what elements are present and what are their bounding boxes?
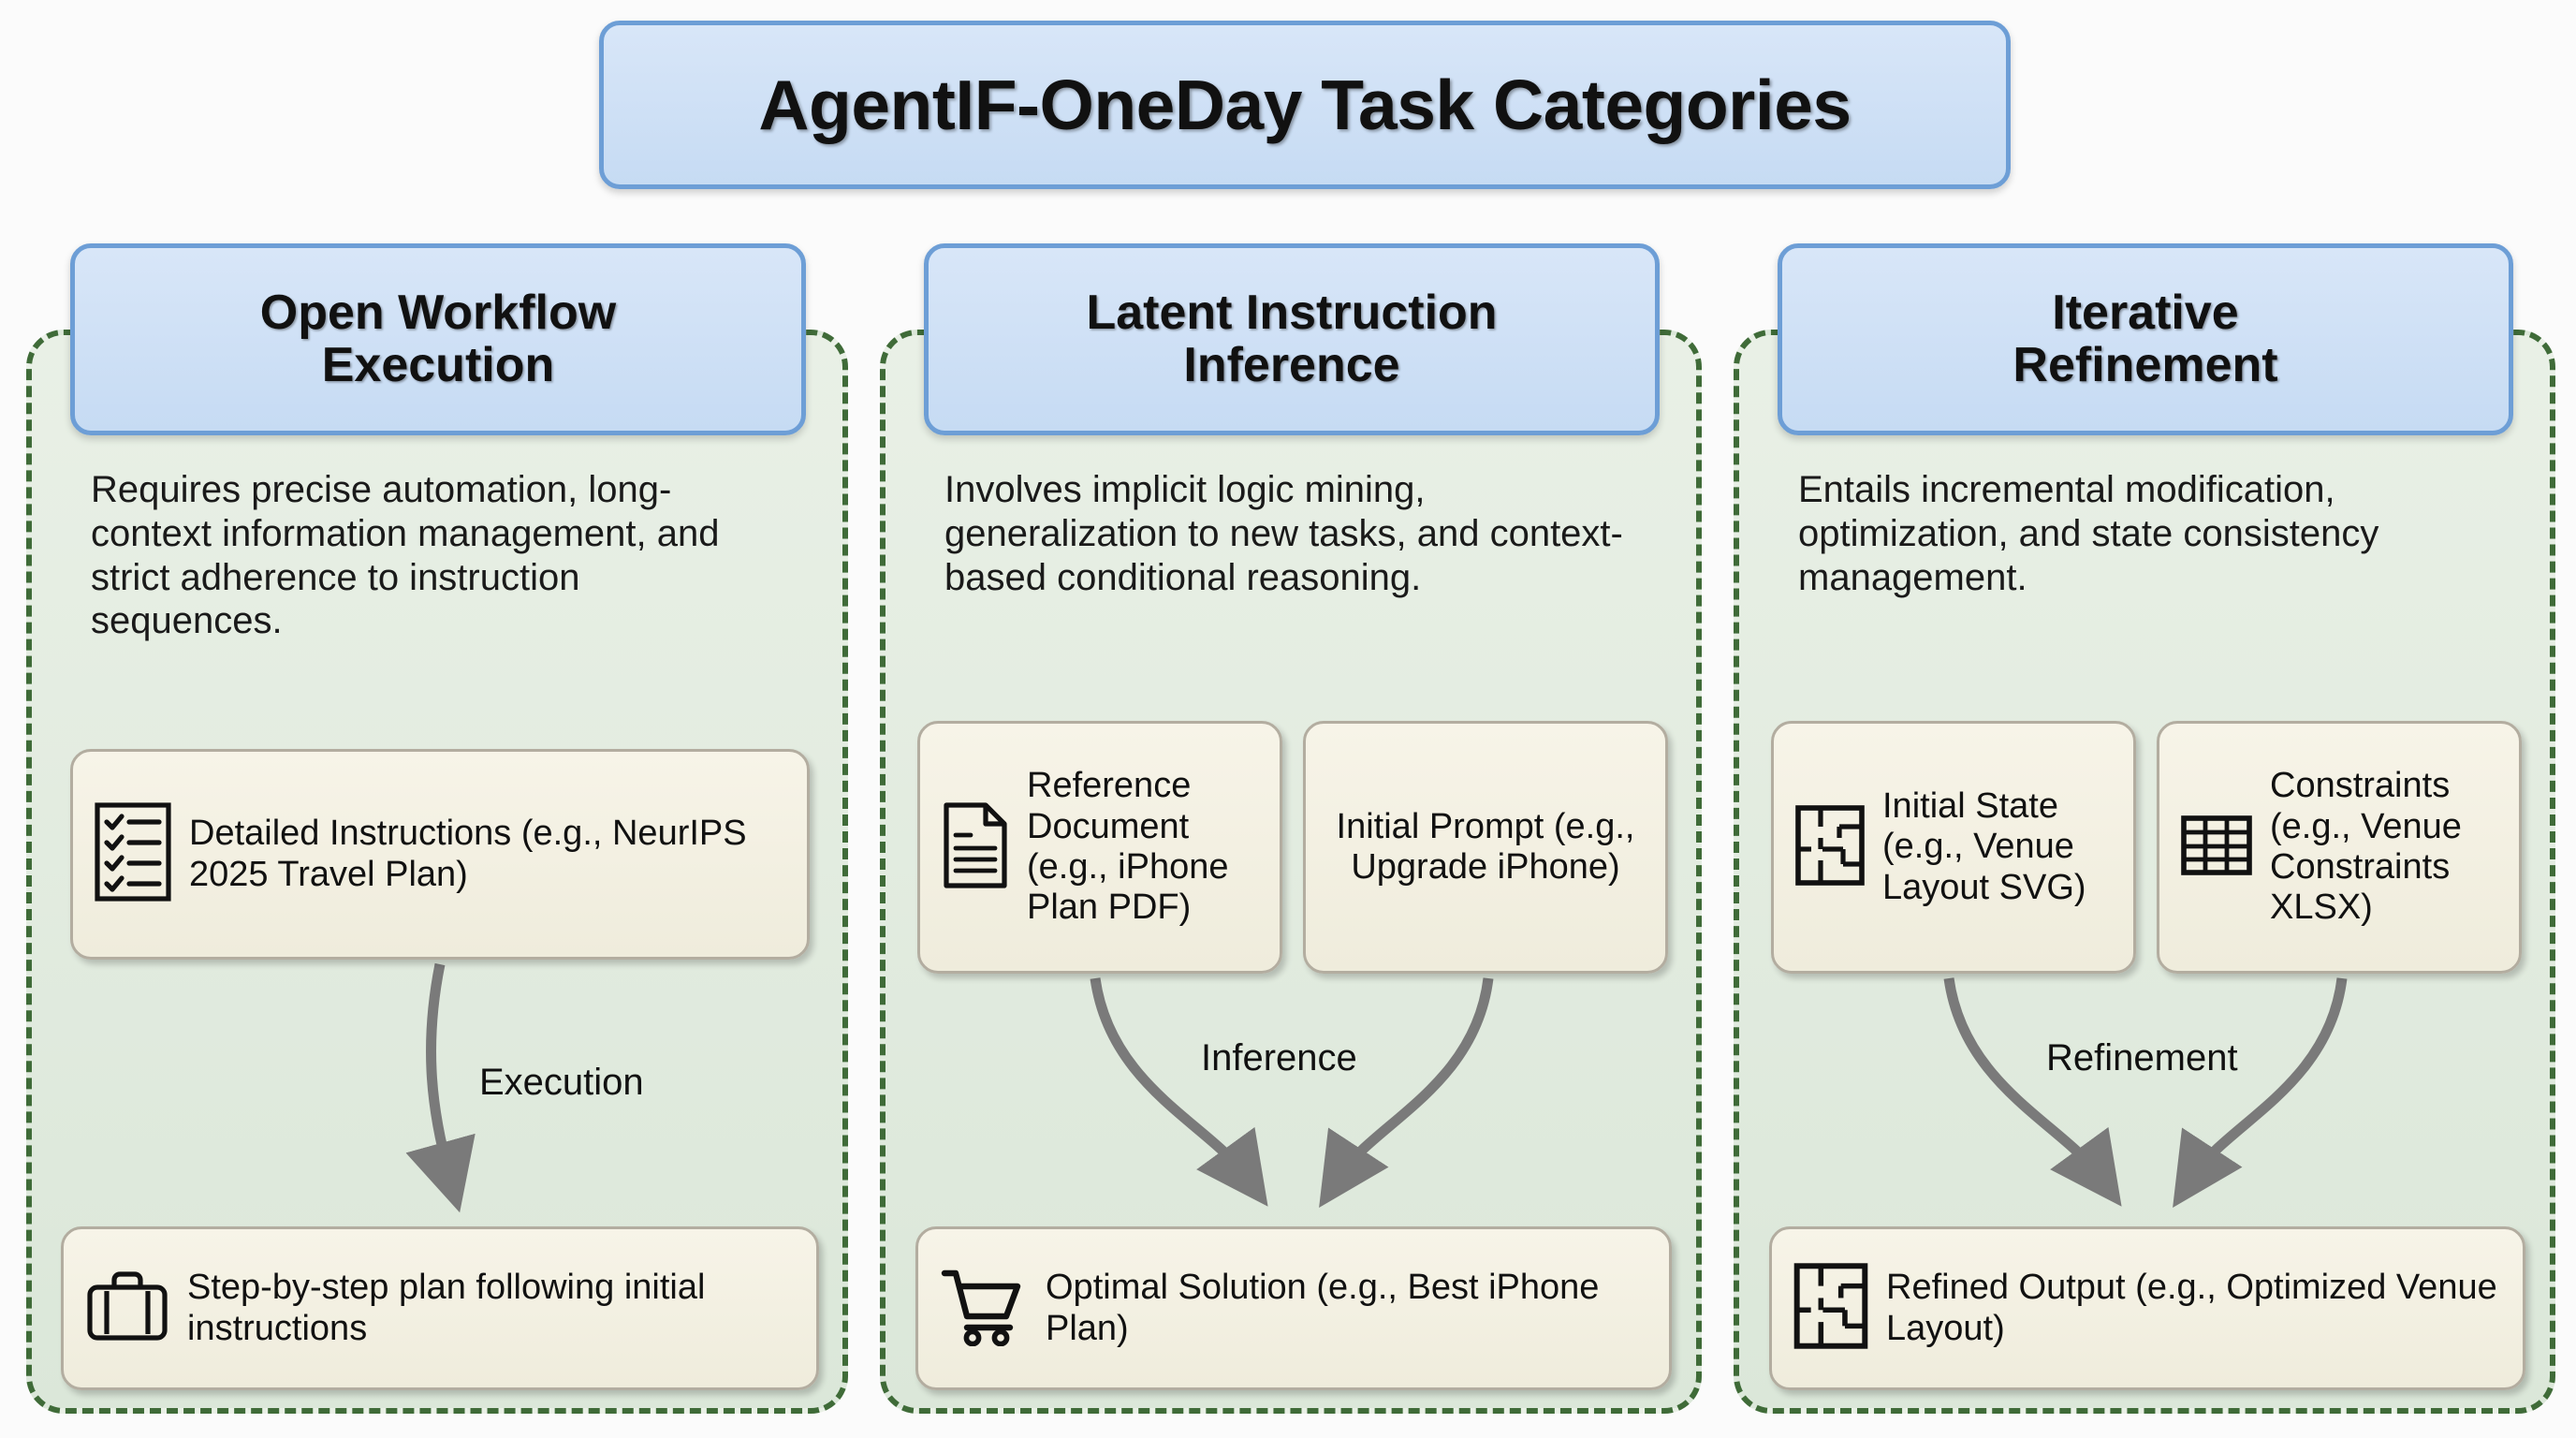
column-header-2: Iterative Refinement <box>1778 243 2513 435</box>
column-description-1: Involves implicit logic mining, generali… <box>944 468 1656 599</box>
input-card-constraints[interactable]: Constraints (e.g., Venue Constraints XLS… <box>2157 721 2522 974</box>
column-header-1: Latent Instruction Inference <box>924 243 1660 435</box>
input-card-constraints-label: Constraints (e.g., Venue Constraints XLS… <box>2270 766 2498 928</box>
input-card-initial-prompt-label: Initial Prompt (e.g., Upgrade iPhone) <box>1326 807 1645 888</box>
arrow-label-inference: Inference <box>1201 1037 1357 1079</box>
output-card-refined-output-label: Refined Output (e.g., Optimized Venue La… <box>1886 1268 2502 1349</box>
column-header-0-label: Open Workflow Execution <box>260 287 616 390</box>
column-header-2-label: Iterative Refinement <box>2012 287 2277 390</box>
arrow-label-execution: Execution <box>479 1062 644 1104</box>
arrow-label-refinement: Refinement <box>2046 1037 2238 1079</box>
input-card-detailed-instructions[interactable]: Detailed Instructions (e.g., NeurIPS 202… <box>70 749 810 960</box>
floorplan-icon <box>1794 804 1866 891</box>
briefcase-icon <box>84 1269 170 1348</box>
input-card-reference-document-label: Reference Document (e.g., iPhone Plan PD… <box>1027 766 1259 928</box>
input-card-detailed-instructions-label: Detailed Instructions (e.g., NeurIPS 202… <box>189 814 786 895</box>
document-icon <box>941 801 1010 894</box>
diagram-title-box: AgentIF-OneDay Task Categories <box>599 21 2011 189</box>
spreadsheet-grid-icon <box>2180 814 2253 881</box>
output-card-step-by-step-plan-label: Step-by-step plan following initial inst… <box>187 1268 796 1349</box>
checklist-icon <box>94 801 172 907</box>
output-card-refined-output[interactable]: Refined Output (e.g., Optimized Venue La… <box>1769 1226 2525 1390</box>
input-card-initial-state[interactable]: Initial State (e.g., Venue Layout SVG) <box>1771 721 2136 974</box>
floorplan-icon <box>1793 1262 1869 1355</box>
input-card-initial-state-label: Initial State (e.g., Venue Layout SVG) <box>1882 786 2113 908</box>
output-card-optimal-solution[interactable]: Optimal Solution (e.g., Best iPhone Plan… <box>915 1226 1672 1390</box>
column-description-2: Entails incremental modification, optimi… <box>1798 468 2510 599</box>
column-header-0: Open Workflow Execution <box>70 243 806 435</box>
column-header-1-label: Latent Instruction Inference <box>1086 287 1497 390</box>
output-card-step-by-step-plan[interactable]: Step-by-step plan following initial inst… <box>61 1226 819 1390</box>
column-description-0: Requires precise automation, long-contex… <box>91 468 746 643</box>
output-card-optimal-solution-label: Optimal Solution (e.g., Best iPhone Plan… <box>1046 1268 1648 1349</box>
input-card-reference-document[interactable]: Reference Document (e.g., iPhone Plan PD… <box>917 721 1282 974</box>
input-card-initial-prompt[interactable]: Initial Prompt (e.g., Upgrade iPhone) <box>1303 721 1668 974</box>
page-title: AgentIF-OneDay Task Categories <box>758 65 1851 145</box>
shopping-cart-icon <box>939 1266 1029 1351</box>
